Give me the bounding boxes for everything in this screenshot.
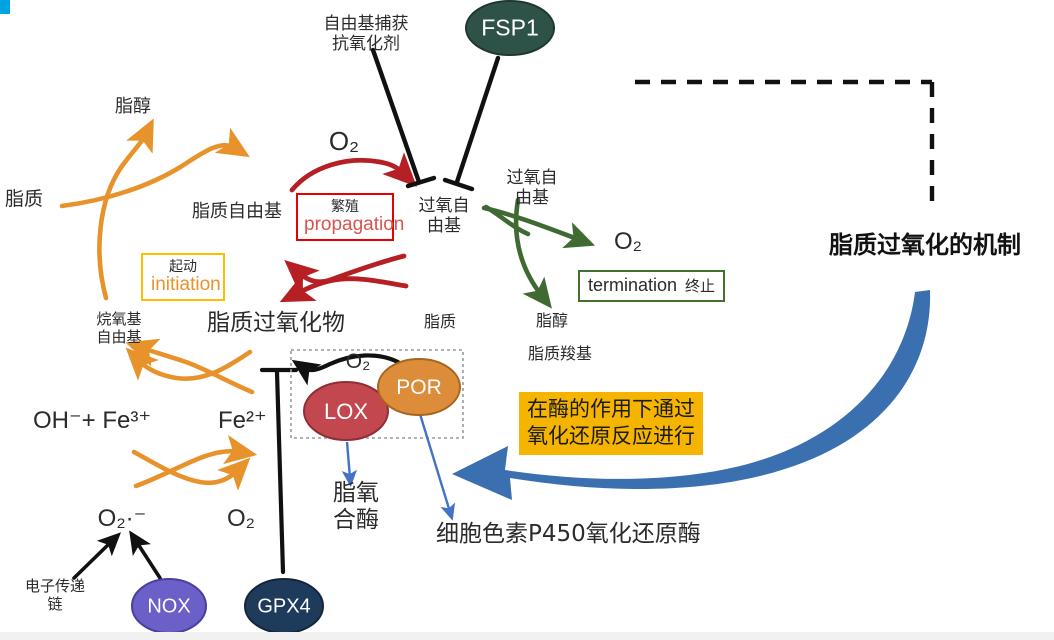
label-lipid-peroxide: 脂质过氧化物 <box>207 310 345 337</box>
propagation-label-cn: 繁殖 <box>304 196 386 216</box>
initiation-box: 起动 initiation <box>141 253 225 301</box>
label-fe2: Fe²⁺ <box>218 407 267 435</box>
label-radical-trapping-antioxidant: 自由基捕获 抗氧化剂 <box>324 14 409 54</box>
enzyme-mechanism-callout: 在酶的作用下通过 氧化还原反应进行 <box>519 392 703 455</box>
dashed-title-connector <box>635 82 932 212</box>
termination-label-cn: 终止 <box>685 278 715 295</box>
label-superoxide: O₂·⁻ <box>98 505 147 533</box>
node-label-nox: NOX <box>147 596 190 619</box>
node-ellipse-lox <box>304 382 388 440</box>
label-cyp450-reductase: 细胞色素P450氧化还原酶 <box>436 521 701 548</box>
node-ellipse-gpx4 <box>245 579 323 633</box>
label-o2-bottom: O₂ <box>227 505 255 533</box>
node-label-fsp1: FSP1 <box>481 15 539 42</box>
inhibition-bars <box>373 50 498 189</box>
bottom-strip <box>0 632 1054 640</box>
etc-arrows <box>74 541 160 578</box>
node-ellipse-fsp1 <box>466 1 554 55</box>
label-alkoxy-radical: 烷氧基 自由基 <box>96 311 141 346</box>
orange-cross-lower <box>134 451 240 486</box>
node-ellipse-nox <box>132 579 206 633</box>
corner-accent-mark <box>0 0 10 14</box>
label-lipid-carboxyl: 脂质羧基 <box>528 345 592 364</box>
label-electron-transport-chain: 电子传递 链 <box>25 578 85 613</box>
label-peroxy-radical-left: 过氧自 由基 <box>419 196 470 236</box>
termination-box: termination终止 <box>578 270 725 302</box>
label-lipid-alcohol-right: 脂醇 <box>536 312 568 331</box>
propagation-box: 繁殖 propagation <box>296 193 394 241</box>
orange-cross-upper <box>138 348 252 392</box>
diagram-canvas: FSP1 LOX POR NOX GPX4 自由基捕获 抗氧化剂 O₂ 脂质 脂… <box>0 0 1054 640</box>
node-label-gpx4: GPX4 <box>257 596 310 619</box>
label-lipid-alcohol-left: 脂醇 <box>115 96 151 117</box>
initiation-label-cn: 起动 <box>151 256 215 276</box>
label-o2-green: O₂ <box>614 228 642 256</box>
page-title: 脂质过氧化的机制 <box>829 225 1021 260</box>
green-termination-arrows <box>484 200 580 296</box>
initiation-label-en: initiation <box>151 274 215 296</box>
label-peroxy-radical-right: 过氧自 由基 <box>507 168 558 208</box>
label-o2-enzyme-box: O₂ <box>346 350 371 375</box>
label-lipoxygenase: 脂氧 合酶 <box>333 480 379 534</box>
termination-label-en: termination <box>588 275 677 295</box>
enzyme-group-box <box>291 350 463 438</box>
label-lipid-radical: 脂质自由基 <box>192 201 282 222</box>
label-o2-top: O₂ <box>329 126 359 157</box>
node-ellipse-por <box>378 359 460 415</box>
node-label-por: POR <box>396 376 442 400</box>
gpx4-inhibition-bar <box>262 370 296 572</box>
label-lipid-small: 脂质 <box>424 313 456 332</box>
label-oh-fe3: OH⁻+ Fe³⁺ <box>33 407 151 435</box>
propagation-label-en: propagation <box>304 214 386 236</box>
label-lipid-entry: 脂质 <box>5 188 43 210</box>
node-label-lox: LOX <box>324 399 368 425</box>
